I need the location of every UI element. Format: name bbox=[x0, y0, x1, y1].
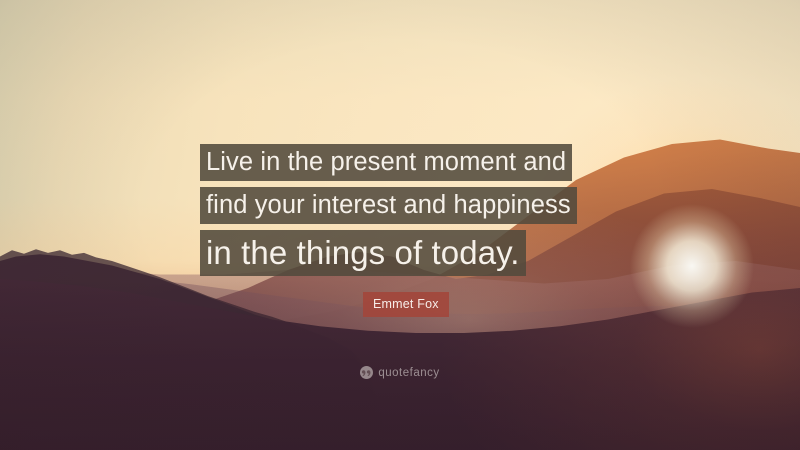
author-name-badge: Emmet Fox bbox=[363, 292, 449, 317]
quote-line-1: Live in the present moment and bbox=[200, 144, 572, 181]
quote-mark-icon bbox=[360, 366, 373, 379]
watermark-label: quotefancy bbox=[378, 367, 439, 379]
quote-line-3: in the things of today. bbox=[200, 230, 526, 276]
quote-poster: Live in the present moment and find your… bbox=[0, 0, 800, 450]
quote-text-block: Live in the present moment and find your… bbox=[200, 144, 577, 276]
watermark: quotefancy bbox=[0, 366, 800, 379]
quote-line-2: find your interest and happiness bbox=[200, 187, 577, 224]
